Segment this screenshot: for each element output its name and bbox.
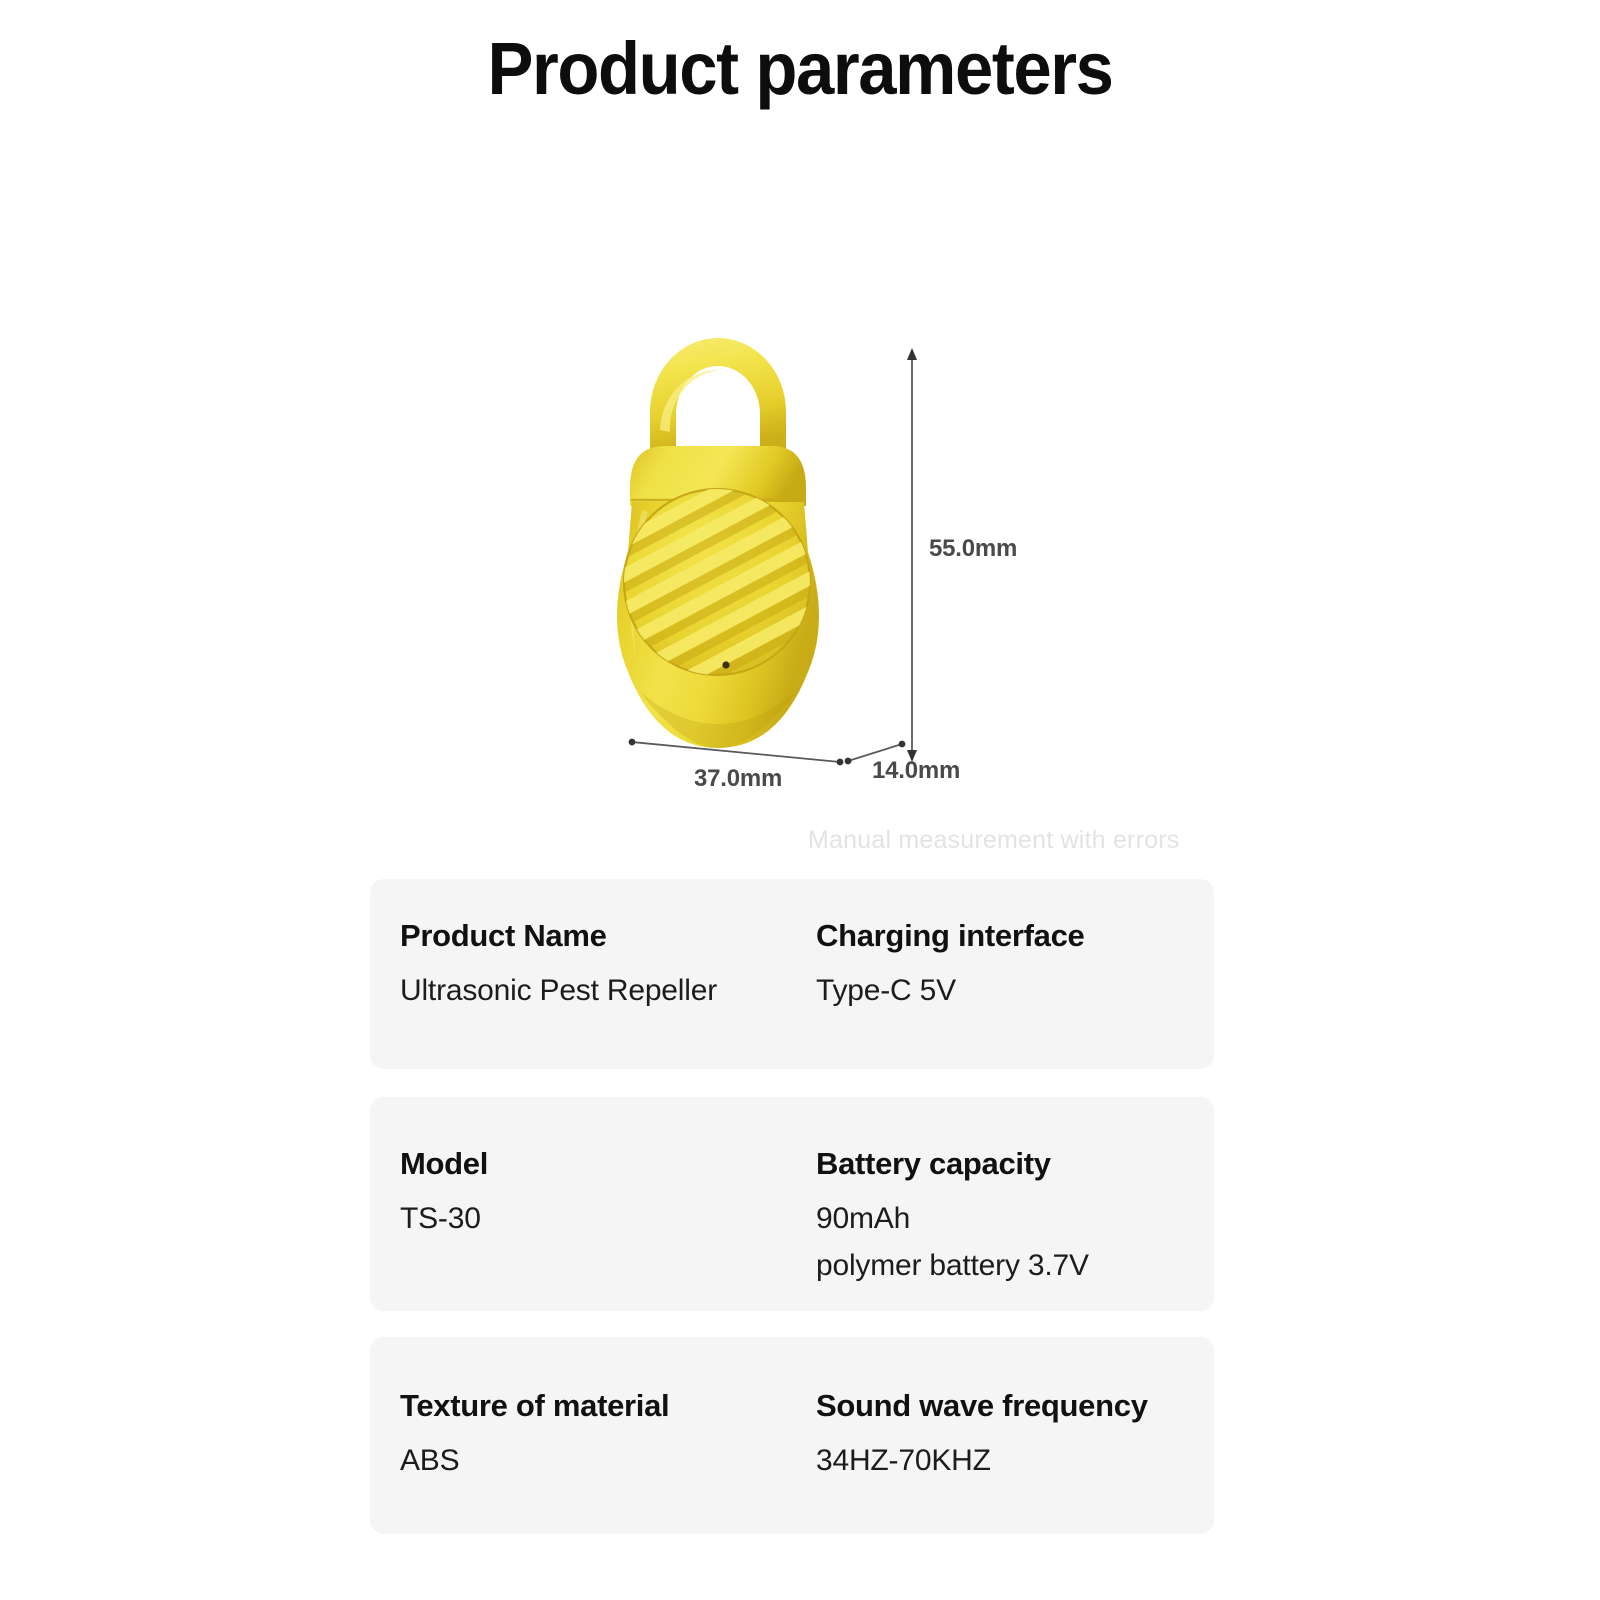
spec-cell: Battery capacity 90mAh polymer battery 3…: [798, 1097, 1214, 1311]
led-indicator-dot: [722, 661, 729, 668]
spec-value: Type-C 5V: [816, 971, 1214, 1010]
spec-cell: Sound wave frequency 34HZ-70KHZ: [798, 1337, 1214, 1534]
spec-cell: Model TS-30: [370, 1097, 798, 1311]
spec-card: Model TS-30 Battery capacity 90mAh polym…: [370, 1097, 1214, 1311]
spec-label: Texture of material: [400, 1387, 798, 1426]
spec-value: 34HZ-70KHZ: [816, 1441, 1214, 1480]
spec-card: Product Name Ultrasonic Pest Repeller Ch…: [370, 879, 1214, 1069]
product-parameters-page: Product parameters: [0, 0, 1600, 1600]
spec-label: Sound wave frequency: [816, 1387, 1214, 1426]
spec-label: Model: [400, 1145, 798, 1184]
spec-label: Product Name: [400, 917, 798, 956]
spec-label: Battery capacity: [816, 1145, 1214, 1184]
measurement-disclaimer: Manual measurement with errors: [808, 826, 1179, 855]
spec-value-line1: 90mAh: [816, 1202, 910, 1235]
spec-label: Charging interface: [816, 917, 1214, 956]
ultrasonic-pest-repeller-icon: [600, 320, 1020, 820]
spec-value: 90mAh polymer battery 3.7V: [816, 1199, 1214, 1285]
spec-card: Texture of material ABS Sound wave frequ…: [370, 1337, 1214, 1534]
spec-cell: Texture of material ABS: [370, 1337, 798, 1534]
spec-cards-list: Product Name Ultrasonic Pest Repeller Ch…: [370, 879, 1214, 1534]
spec-value: Ultrasonic Pest Repeller: [400, 971, 798, 1010]
spec-cell: Charging interface Type-C 5V: [798, 879, 1214, 1069]
page-title: Product parameters: [56, 26, 1544, 111]
spec-value: TS-30: [400, 1199, 798, 1238]
width-dimension-label: 37.0mm: [694, 765, 782, 793]
spec-cell: Product Name Ultrasonic Pest Repeller: [370, 879, 798, 1069]
depth-dimension-label: 14.0mm: [872, 757, 960, 785]
spec-value: ABS: [400, 1441, 798, 1480]
product-illustration-area: 55.0mm 37.0mm 14.0mm: [0, 300, 1600, 880]
spec-value-line2: polymer battery 3.7V: [816, 1246, 1214, 1285]
height-dimension-label: 55.0mm: [929, 535, 1017, 563]
